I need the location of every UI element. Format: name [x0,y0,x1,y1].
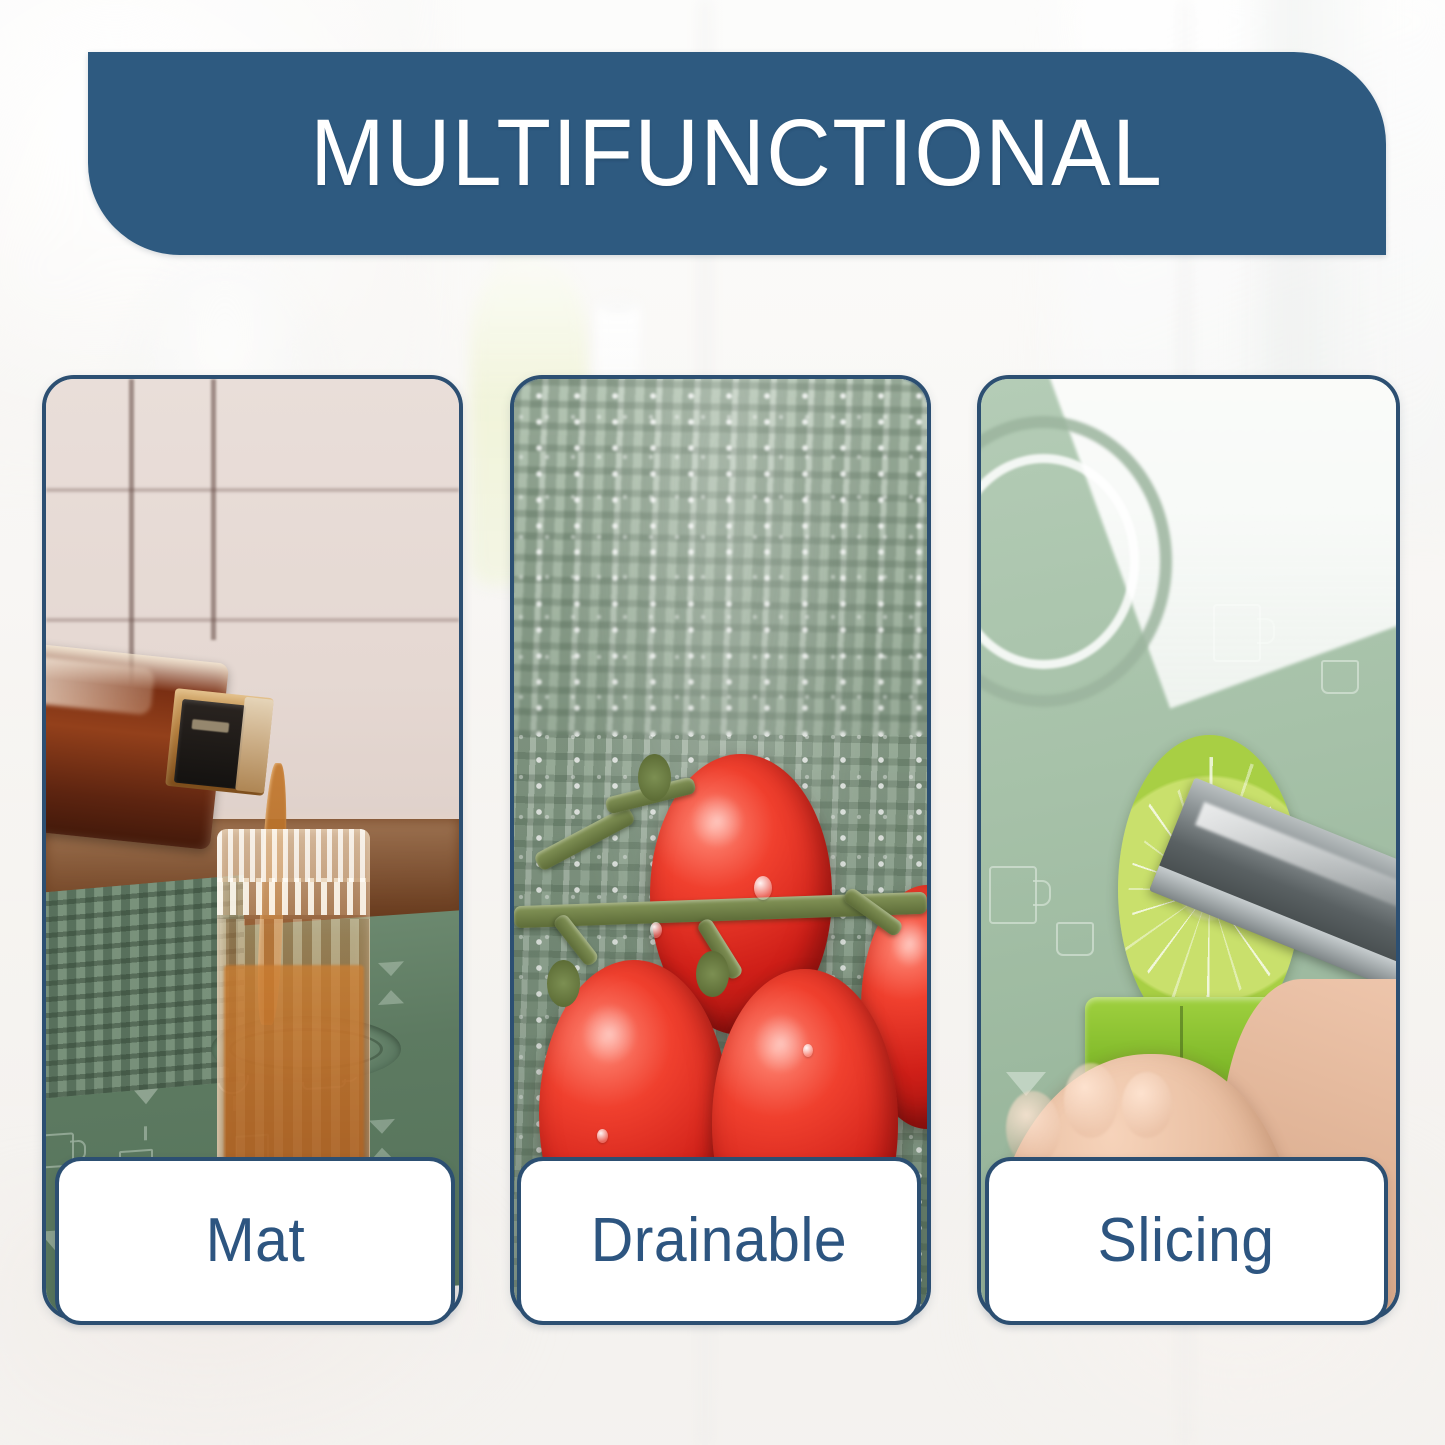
hourglass-icon [378,989,404,1005]
feature-label-drainable: Drainable [517,1157,921,1325]
tomato-calyx [638,754,671,801]
tomato-calyx [696,951,729,998]
wall-groove [46,618,459,622]
knuckle [1122,1072,1172,1138]
wall-groove [46,488,459,492]
water-droplet [754,876,772,900]
feature-label-mat: Mat [55,1157,455,1325]
feature-label-slicing: Slicing [985,1157,1388,1325]
bottle-label [174,699,246,790]
jug-icon [1213,604,1261,662]
feature-label-text: Mat [205,1210,305,1272]
feature-label-text: Drainable [591,1210,847,1272]
cup-icon [1056,922,1094,956]
tomato-calyx [547,960,580,1007]
knuckle [1006,1091,1060,1166]
cup-icon [1321,660,1359,694]
glass-rim [217,829,370,883]
product-feature-graphic: MULTIFUNCTIONAL [0,0,1445,1445]
knuckle [1064,1063,1118,1138]
glass-bead-band [217,878,370,915]
jug-icon [989,866,1037,924]
mat-ribbed-section [46,875,244,1101]
water-droplet [597,1129,608,1143]
feature-card-row: BAR M [0,0,1445,1445]
wall-groove-vertical [211,379,216,640]
feature-label-text: Slicing [1098,1210,1275,1272]
